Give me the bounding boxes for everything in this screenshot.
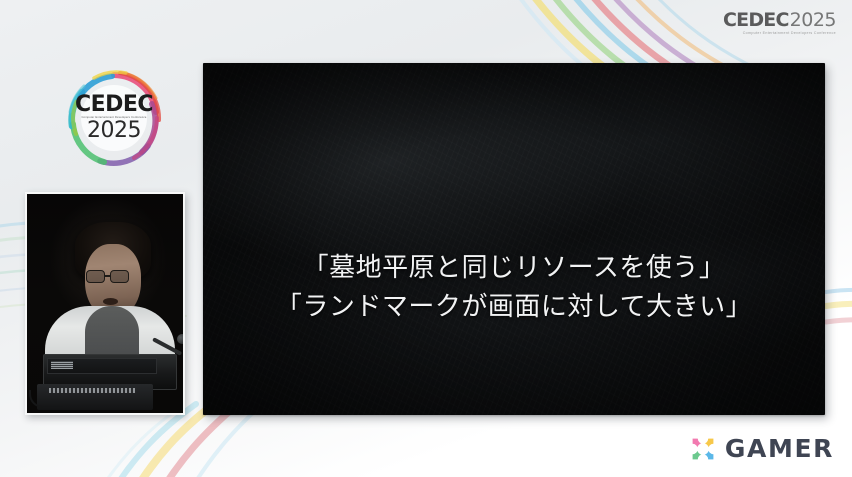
speaker-glasses-left-icon bbox=[86, 270, 105, 283]
slide-canvas: 「墓地平原と同じリソースを使う」 「ランドマークが画面に対して大きい」 bbox=[203, 63, 825, 415]
slide-vignette bbox=[203, 63, 825, 415]
inset-frame bbox=[25, 192, 185, 415]
cedec-2025-round-logo: CEDEC Computer Entertainment Developers … bbox=[64, 68, 164, 168]
gamer-logo-icon bbox=[690, 436, 716, 462]
inset-video bbox=[27, 194, 183, 413]
presentation-slide: 「墓地平原と同じリソースを使う」 「ランドマークが画面に対して大きい」 bbox=[203, 63, 825, 415]
speaker-mouth bbox=[103, 298, 118, 305]
speaker-camera-inset bbox=[25, 192, 185, 415]
microphone-head-icon bbox=[177, 334, 183, 344]
cedec-logo-wordmark: CEDEC bbox=[75, 94, 153, 116]
gamer-watermark-label: GAMER bbox=[725, 434, 834, 463]
corner-wordmark-subtitle: Computer Entertainment Developers Confer… bbox=[743, 32, 836, 36]
speaker-glasses-bridge bbox=[105, 275, 110, 277]
gamer-watermark: GAMER bbox=[690, 434, 834, 463]
cedec-2025-corner-wordmark: CEDEC 2025 Computer Entertainment Develo… bbox=[723, 11, 836, 36]
slide-text-block: 「墓地平原と同じリソースを使う」 「ランドマークが画面に対して大きい」 bbox=[203, 249, 825, 327]
podium-cable bbox=[29, 390, 63, 408]
slide-line-2: 「ランドマークが画面に対して大きい」 bbox=[203, 288, 825, 327]
corner-wordmark-year: 2025 bbox=[790, 11, 836, 30]
laptop-screen bbox=[47, 358, 157, 374]
corner-wordmark-text: CEDEC bbox=[723, 11, 789, 30]
slide-line-1: 「墓地平原と同じリソースを使う」 bbox=[203, 249, 825, 288]
corner-wordmark-row: CEDEC 2025 bbox=[723, 11, 836, 30]
cedec-logo-year: 2025 bbox=[87, 120, 141, 142]
laptop-screen-label bbox=[51, 361, 73, 369]
speaker-glasses-right-icon bbox=[110, 270, 129, 283]
video-frame: CEDEC Computer Entertainment Developers … bbox=[0, 0, 852, 477]
